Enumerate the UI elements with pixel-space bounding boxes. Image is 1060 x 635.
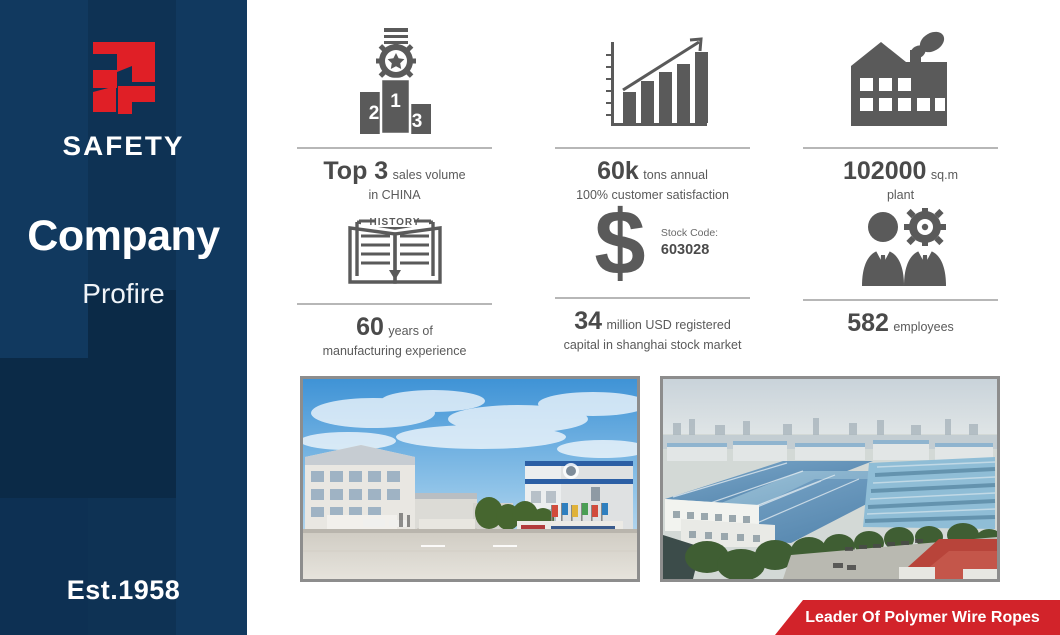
- stat-employees: 582 employees: [803, 208, 998, 340]
- brand-logo: SAFETY: [0, 40, 247, 162]
- stat-divider: [555, 297, 750, 299]
- employees-gear-icon: [803, 208, 998, 288]
- factory-aerial-photo: [660, 376, 1000, 582]
- stat-headline: Top 3 sales volume: [297, 158, 492, 184]
- svg-text:3: 3: [411, 111, 422, 132]
- stat-headline: 60k tons annual: [555, 158, 750, 184]
- stat-unit: tons annual: [643, 168, 708, 182]
- sidebar-shape-2: [88, 290, 176, 498]
- stat-registered-capital: $ Stock Code: 603028 34 million USD regi…: [555, 206, 750, 354]
- stat-years-experience: HISTORY 60 years: [297, 212, 492, 360]
- stats-grid: 2 1 3 Top 3 sales volume in CHINA: [247, 0, 1060, 365]
- tagline-banner: Leader Of Polymer Wire Ropes: [775, 600, 1060, 635]
- stat-value: Top 3: [323, 157, 388, 185]
- brand-wordmark: SAFETY: [0, 131, 247, 162]
- tagline-text: Leader Of Polymer Wire Ropes: [805, 609, 1040, 627]
- stat-value: 60k: [597, 157, 639, 185]
- bar-chart-growth-icon: [555, 18, 750, 136]
- svg-text:$: $: [594, 200, 645, 286]
- stat-divider: [297, 303, 492, 305]
- factory-icon: [803, 18, 998, 136]
- stat-top-sales-volume: 2 1 3 Top 3 sales volume in CHINA: [297, 18, 492, 204]
- stat-description: plant: [803, 188, 998, 204]
- dollar-sign-icon: $ Stock Code: 603028: [555, 206, 750, 286]
- safety-s-shield-logo-icon: [87, 40, 161, 116]
- stat-value: 102000: [843, 157, 926, 185]
- sidebar: SAFETY Company Profire Est.1958: [0, 0, 247, 635]
- stock-code-value: 603028: [661, 241, 718, 259]
- history-book-icon: HISTORY: [297, 212, 492, 292]
- stat-value: 60: [356, 313, 384, 341]
- stat-description: capital in shanghai stock market: [555, 338, 750, 354]
- stat-headline: 34 million USD registered: [555, 308, 750, 334]
- stat-plant-area: 102000 sq.m plant: [803, 18, 998, 204]
- history-book-label: HISTORY: [369, 217, 420, 228]
- svg-text:1: 1: [390, 91, 401, 112]
- page-subtitle: Profire: [0, 278, 247, 310]
- stat-description: manufacturing experience: [297, 344, 492, 360]
- stat-divider: [803, 147, 998, 149]
- stat-unit: employees: [893, 320, 953, 334]
- sidebar-shape-3: [0, 498, 88, 635]
- sidebar-shape-1: [0, 358, 88, 498]
- established-year: Est.1958: [0, 575, 247, 606]
- stat-headline: 102000 sq.m: [803, 158, 998, 184]
- stat-unit: sales volume: [393, 168, 466, 182]
- stat-description: in CHINA: [297, 188, 492, 204]
- stat-value: 34: [574, 307, 602, 335]
- svg-text:2: 2: [368, 103, 379, 124]
- stat-unit: sq.m: [931, 168, 958, 182]
- page-title: Company: [0, 212, 247, 261]
- stat-divider: [803, 299, 998, 301]
- stat-headline: 60 years of: [297, 314, 492, 340]
- podium-medal-icon: 2 1 3: [297, 18, 492, 136]
- stat-unit: million USD registered: [606, 318, 730, 332]
- stock-code-label: Stock Code:: [661, 227, 718, 240]
- stat-annual-tonnage: 60k tons annual 100% customer satisfacti…: [555, 18, 750, 204]
- factory-office-frontage-photo: [300, 376, 640, 582]
- stock-code: Stock Code: 603028: [661, 227, 718, 258]
- stat-divider: [297, 147, 492, 149]
- stat-value: 582: [847, 309, 889, 337]
- stat-unit: years of: [388, 324, 432, 338]
- stat-headline: 582 employees: [803, 310, 998, 336]
- company-profile-slide: SAFETY Company Profire Est.1958: [0, 0, 1060, 635]
- stat-divider: [555, 147, 750, 149]
